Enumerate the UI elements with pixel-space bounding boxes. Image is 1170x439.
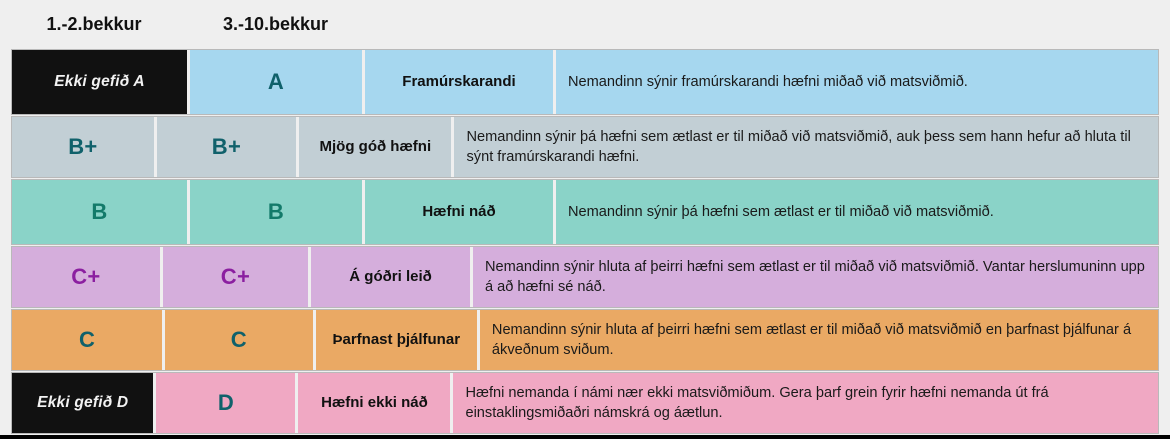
table-row: Ekki gefið D D Hæfni ekki náð Hæfni nema… <box>12 373 1158 433</box>
grade-3-10-letter: A <box>268 69 284 95</box>
cell-description: Nemandinn sýnir hluta af þeirri hæfni se… <box>480 310 1158 370</box>
header-label-grades-1-2: 1.-2.bekkur <box>0 14 188 35</box>
table-row: B+ B+ Mjög góð hæfni Nemandinn sýnir þá … <box>12 117 1158 177</box>
level-label: Þarfnast þjálfunar <box>333 331 461 350</box>
cell-grade-1-2: C+ <box>12 247 160 307</box>
cell-level-label: Framúrskarandi <box>365 50 553 114</box>
grade-3-10-letter: B+ <box>212 134 241 160</box>
grade-3-10-letter: C <box>231 327 247 353</box>
cell-level-label: Hæfni náð <box>365 180 553 244</box>
cell-grade-3-10: A <box>190 50 362 114</box>
grade-1-2-letter: B <box>91 199 107 225</box>
description-text: Nemandinn sýnir þá hæfni sem ætlast er t… <box>568 202 994 222</box>
cell-description: Nemandinn sýnir þá hæfni sem ætlast er t… <box>556 180 1158 244</box>
cell-grade-3-10: C <box>165 310 313 370</box>
grade-1-2-letter: C <box>79 327 95 353</box>
level-label: Mjög góð hæfni <box>320 138 432 157</box>
level-label: Hæfni ekki náð <box>321 394 428 413</box>
level-label: Hæfni náð <box>422 203 495 222</box>
description-text: Nemandinn sýnir framúrskarandi hæfni mið… <box>568 72 968 92</box>
cell-grade-1-2: Ekki gefið D <box>12 373 153 433</box>
cell-grade-3-10: B+ <box>157 117 296 177</box>
cell-description: Nemandinn sýnir hluta af þeirri hæfni se… <box>473 247 1158 307</box>
cell-description: Nemandinn sýnir þá hæfni sem ætlast er t… <box>454 117 1158 177</box>
grade-3-10-letter: B <box>268 199 284 225</box>
table-row: C+ C+ Á góðri leið Nemandinn sýnir hluta… <box>12 247 1158 307</box>
cell-level-label: Þarfnast þjálfunar <box>316 310 477 370</box>
column-header-row: 1.-2.bekkur 3.-10.bekkur <box>0 0 1170 48</box>
grade-3-10-letter: C+ <box>221 264 250 290</box>
header-label-grades-3-10: 3.-10.bekkur <box>188 14 363 35</box>
grade-3-10-letter: D <box>218 390 234 416</box>
description-text: Hæfni nemanda í námi nær ekki matsviðmið… <box>465 383 1148 423</box>
cell-description: Nemandinn sýnir framúrskarandi hæfni mið… <box>556 50 1158 114</box>
description-text: Nemandinn sýnir hluta af þeirri hæfni se… <box>492 320 1148 360</box>
cell-level-label: Hæfni ekki náð <box>298 373 450 433</box>
table-row: Ekki gefið A A Framúrskarandi Nemandinn … <box>12 50 1158 114</box>
table-row: B B Hæfni náð Nemandinn sýnir þá hæfni s… <box>12 180 1158 244</box>
grade-scale-table: Ekki gefið A A Framúrskarandi Nemandinn … <box>12 50 1158 426</box>
grade-1-2-label: Ekki gefið D <box>37 394 128 412</box>
cell-description: Hæfni nemanda í námi nær ekki matsviðmið… <box>453 373 1158 433</box>
grade-1-2-letter: B+ <box>68 134 97 160</box>
grade-1-2-label: Ekki gefið A <box>54 73 145 91</box>
cell-grade-3-10: B <box>190 180 362 244</box>
cell-level-label: Mjög góð hæfni <box>299 117 451 177</box>
cell-grade-3-10: C+ <box>163 247 308 307</box>
description-text: Nemandinn sýnir hluta af þeirri hæfni se… <box>485 257 1148 297</box>
cell-grade-1-2: C <box>12 310 162 370</box>
cell-grade-1-2: B <box>12 180 187 244</box>
cell-grade-1-2: Ekki gefið A <box>12 50 187 114</box>
table-row: C C Þarfnast þjálfunar Nemandinn sýnir h… <box>12 310 1158 370</box>
cell-grade-3-10: D <box>156 373 295 433</box>
level-label: Á góðri leið <box>349 268 432 287</box>
grade-1-2-letter: C+ <box>71 264 100 290</box>
level-label: Framúrskarandi <box>402 73 515 92</box>
cell-level-label: Á góðri leið <box>311 247 470 307</box>
description-text: Nemandinn sýnir þá hæfni sem ætlast er t… <box>466 127 1148 167</box>
cell-grade-1-2: B+ <box>12 117 154 177</box>
